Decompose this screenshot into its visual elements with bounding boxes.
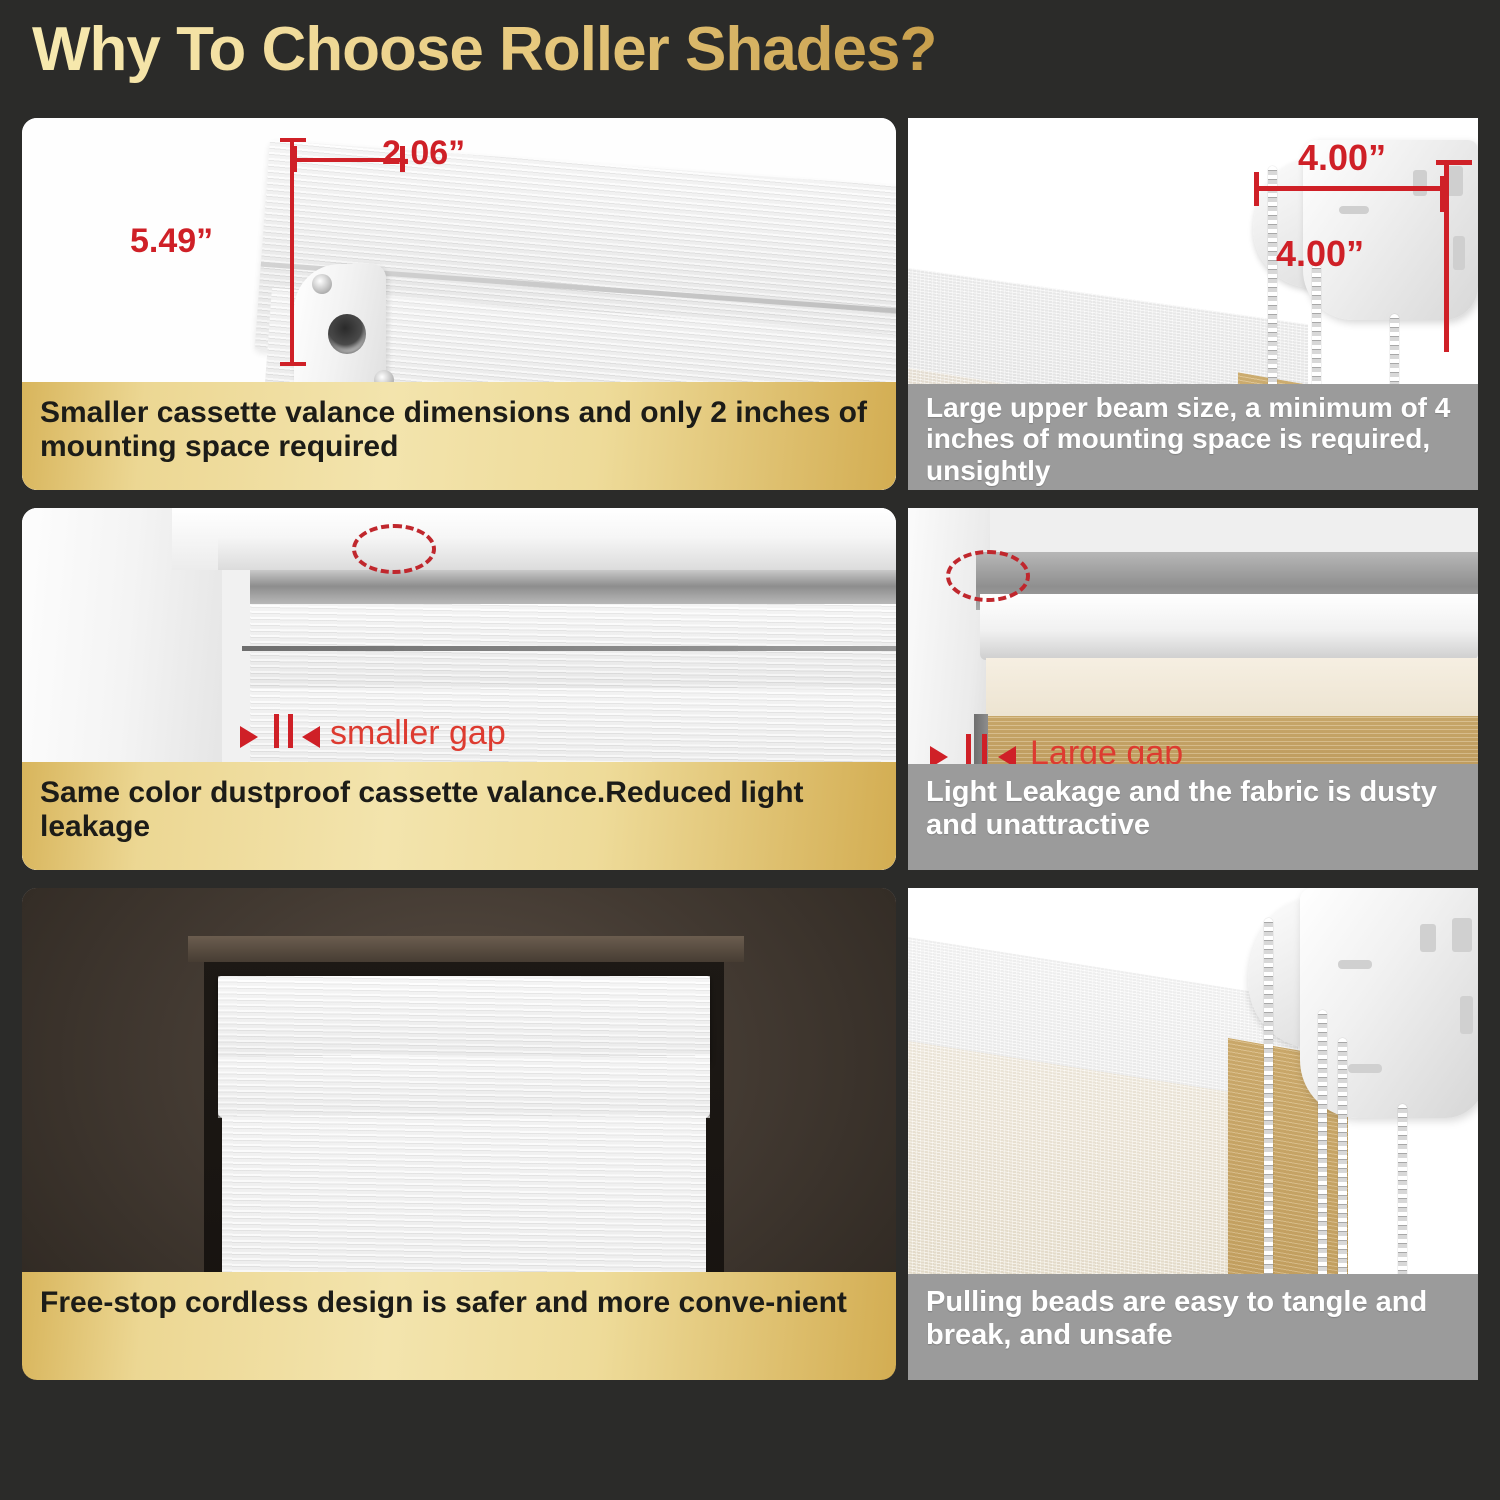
panel-con-pull-beads: Pulling beads are easy to tangle and bre… [908, 888, 1478, 1380]
caption-con-beam-size: Large upper beam size, a minimum of 4 in… [908, 384, 1478, 490]
caption-pro-small-gap: Same color dustproof cassette valance.Re… [22, 762, 896, 870]
height-dimension-label: 5.49” [130, 224, 213, 258]
panel-pro-small-gap: smaller gap Same color dustproof cassett… [22, 508, 896, 870]
panel-pro-cassette-size: 2.06” 5.49” Smaller cassette valance dim… [22, 118, 896, 490]
caption-con-large-gap: Light Leakage and the fabric is dusty an… [908, 764, 1478, 870]
bead-chain [1318, 1010, 1327, 1280]
width-dimension-label: 2.06” [382, 136, 465, 170]
gap-label-small: smaller gap [330, 716, 506, 750]
panel-con-large-gap: Large gap Light Leakage and the fabric i… [908, 508, 1478, 870]
bead-chain [1264, 918, 1273, 1280]
caption-pro-cassette-size: Smaller cassette valance dimensions and … [22, 382, 896, 490]
beam-width-line [1256, 186, 1444, 191]
gap-arrow-right [302, 726, 320, 748]
beam-height-label: 4.00” [1276, 236, 1364, 272]
panel-con-beam-size: 4.00” 4.00” Large upper beam size, a min… [908, 118, 1478, 490]
gap-shadow-line [242, 646, 896, 651]
height-dimension-line [290, 140, 294, 366]
bead-chain [1338, 1038, 1347, 1280]
mechanism-knob [328, 314, 366, 354]
gap-arrow-left [240, 726, 258, 748]
page-title: Why To Choose Roller Shades? [32, 16, 936, 84]
bead-chain [1398, 1104, 1407, 1280]
caption-con-pull-beads: Pulling beads are easy to tangle and bre… [908, 1274, 1478, 1380]
cassette-valance [218, 976, 710, 1062]
caption-pro-cordless: Free-stop cordless design is safer and m… [22, 1272, 896, 1380]
panel-pro-cordless: Free-stop cordless design is safer and m… [22, 888, 896, 1380]
beam-width-label: 4.00” [1298, 140, 1386, 176]
